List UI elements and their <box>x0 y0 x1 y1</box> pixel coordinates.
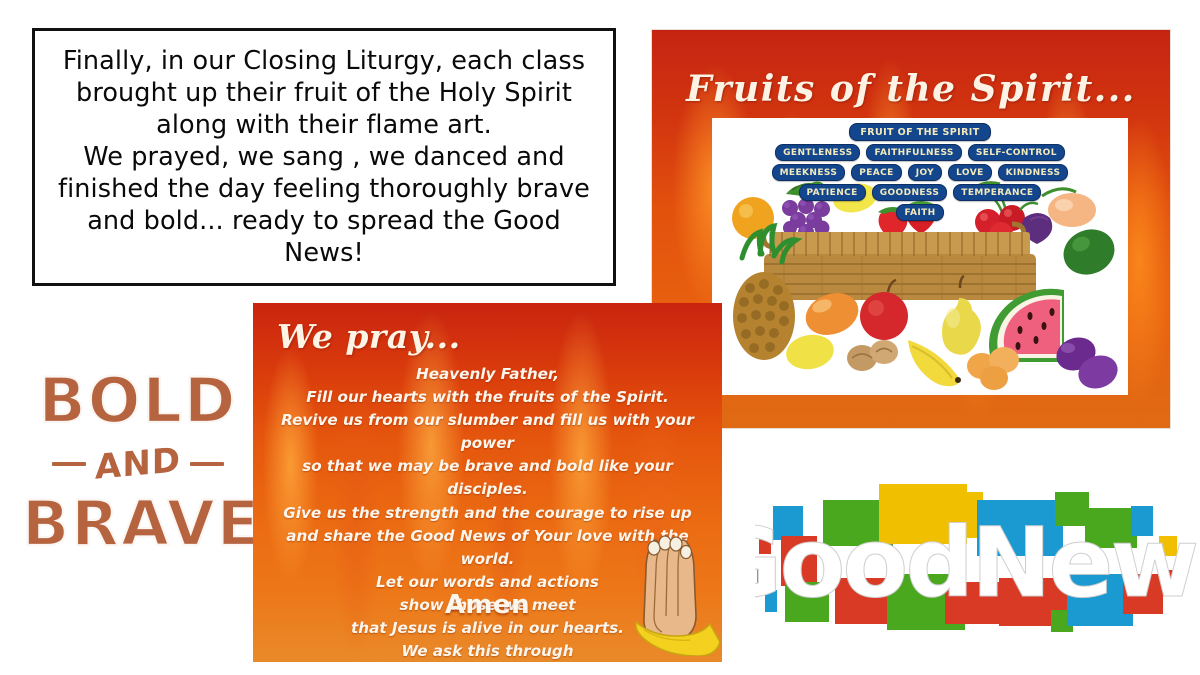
fruit-of-the-spirit-tag-cloud: FRUIT OF THE SPIRITGENTLENESSFAITHFULNES… <box>712 123 1128 221</box>
fruit-tag: SELF-CONTROL <box>968 144 1065 161</box>
fruit-tag: TEMPERANCE <box>953 184 1041 201</box>
fruits-of-the-spirit-panel: Fruits of the Spirit... <box>652 30 1170 428</box>
avocado-icon <box>1057 222 1122 282</box>
tag-row: MEEKNESSPEACEJOYLOVEKINDNESS <box>772 164 1069 181</box>
walnuts-icon <box>847 340 898 371</box>
tag-row: PATIENCEGOODNESSTEMPERANCE <box>799 184 1042 201</box>
fruit-tag: JOY <box>908 164 942 181</box>
fruit-tag: FAITH <box>896 204 943 221</box>
brave-word: BRAVE <box>22 495 254 554</box>
fruits-panel-title: Fruits of the Spirit... <box>652 68 1170 110</box>
good-news-wordmark: GoodNews <box>755 507 1200 619</box>
tag-row: FAITH <box>896 204 943 221</box>
good-news-graphic: GoodNews <box>755 478 1200 668</box>
bold-and-brave-wordmark: BOLD AND BRAVE <box>22 332 254 594</box>
fruit-tag: GOODNESS <box>872 184 948 201</box>
narrative-paragraph: Finally, in our Closing Liturgy, each cl… <box>35 41 613 273</box>
fruit-tag: PATIENCE <box>799 184 866 201</box>
and-connector-row: AND <box>22 444 254 484</box>
fruit-tag: FRUIT OF THE SPIRIT <box>849 123 990 141</box>
prayer-card-title: We pray... <box>277 317 461 356</box>
fruit-tag: LOVE <box>948 164 992 181</box>
praying-hands-icon <box>606 530 722 656</box>
fruit-tag: MEEKNESS <box>772 164 846 181</box>
dash-left-icon <box>52 462 86 466</box>
bold-word: BOLD <box>22 372 254 431</box>
lemon-lower-icon <box>783 331 836 373</box>
we-pray-prayer-card: We pray... Heavenly Father, Fill our hea… <box>253 303 722 662</box>
dash-right-icon <box>190 462 224 466</box>
tag-row: FRUIT OF THE SPIRIT <box>849 123 990 141</box>
fruit-tag: GENTLENESS <box>775 144 860 161</box>
narrative-text-box: Finally, in our Closing Liturgy, each cl… <box>32 28 616 286</box>
tag-row: GENTLENESSFAITHFULNESSSELF-CONTROL <box>775 144 1065 161</box>
good-news-logo: GoodNews <box>755 478 1200 668</box>
fruits-inner-card: FRUIT OF THE SPIRITGENTLENESSFAITHFULNES… <box>712 118 1128 395</box>
wicker-basket-icon <box>764 224 1036 300</box>
fruit-tag: KINDNESS <box>998 164 1069 181</box>
and-word: AND <box>95 440 181 488</box>
fruit-tag: PEACE <box>851 164 901 181</box>
good-news-text: GoodNews <box>755 507 1200 619</box>
fruit-tag: FAITHFULNESS <box>866 144 961 161</box>
apricots-icon <box>967 347 1019 390</box>
